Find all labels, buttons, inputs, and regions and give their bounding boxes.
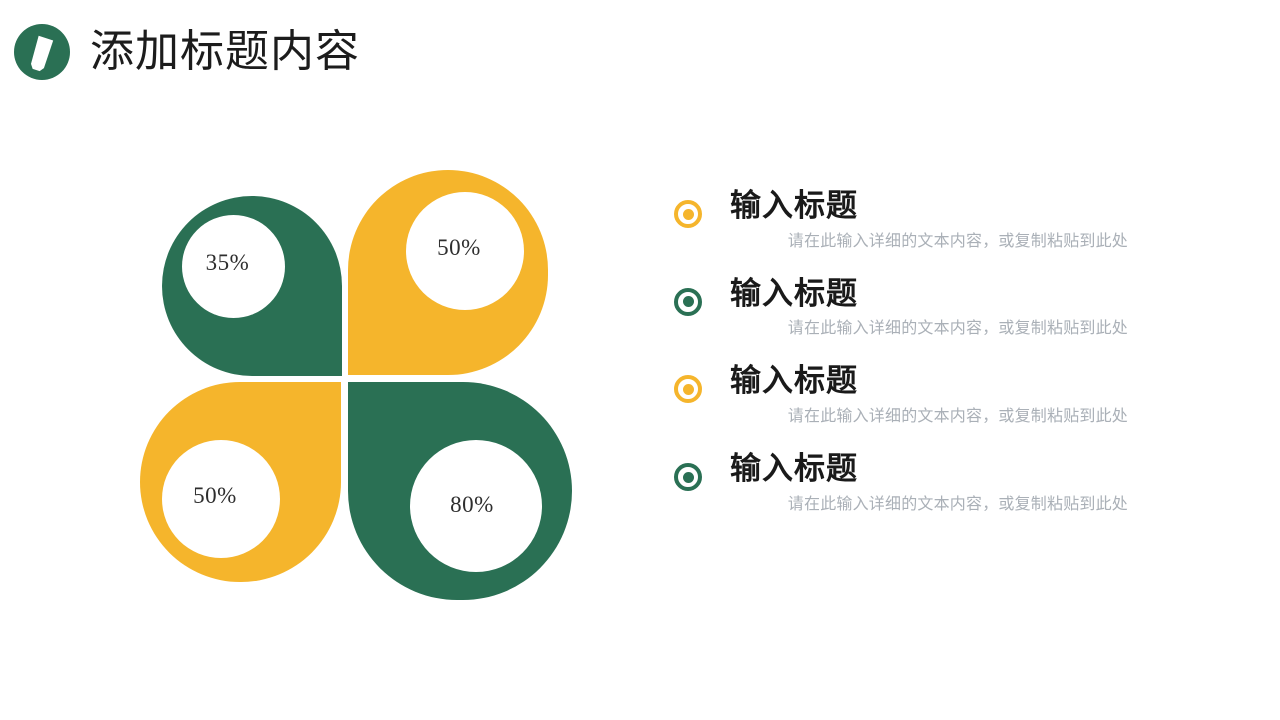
slide-header: 添加标题内容: [14, 16, 360, 88]
petal-top-right-hole: 50%: [406, 192, 524, 310]
list-item-title: 输入标题: [660, 453, 1140, 486]
petal-top-left[interactable]: 35%: [162, 196, 342, 376]
list-item-description: 请在此输入详细的文本内容，或复制粘贴到此处: [660, 407, 1140, 426]
bullet-dot-icon: [683, 209, 694, 220]
list-item-title: 输入标题: [660, 278, 1140, 311]
list-item-description: 请在此输入详细的文本内容，或复制粘贴到此处: [660, 232, 1140, 251]
pencil-circle-icon: [14, 24, 70, 80]
petal-bottom-left-hole: 50%: [162, 440, 280, 558]
bullet-dot-icon: [683, 472, 694, 483]
list-item[interactable]: 输入标题 请在此输入详细的文本内容，或复制粘贴到此处: [660, 453, 1140, 514]
list-item-description: 请在此输入详细的文本内容，或复制粘贴到此处: [660, 495, 1140, 514]
bullet-ring-icon: [674, 463, 702, 491]
petal-top-right[interactable]: 50%: [348, 170, 548, 375]
bullet-ring-icon: [674, 375, 702, 403]
petal-bottom-left-value: 50%: [193, 484, 237, 507]
list-item-title: 输入标题: [660, 190, 1140, 223]
petal-bottom-right-hole: 80%: [410, 440, 542, 572]
bullet-dot-icon: [683, 296, 694, 307]
list-item[interactable]: 输入标题 请在此输入详细的文本内容，或复制粘贴到此处: [660, 278, 1140, 339]
bullet-ring-icon: [674, 200, 702, 228]
four-petal-chart: 35% 50% 50% 80%: [120, 150, 600, 620]
bullet-ring-icon: [674, 288, 702, 316]
petal-bottom-right[interactable]: 80%: [348, 382, 572, 600]
list-item[interactable]: 输入标题 请在此输入详细的文本内容，或复制粘贴到此处: [660, 365, 1140, 426]
bullet-dot-icon: [683, 384, 694, 395]
petal-top-right-value: 50%: [437, 236, 481, 259]
petal-bottom-left[interactable]: 50%: [140, 382, 341, 582]
list-item-description: 请在此输入详细的文本内容，或复制粘贴到此处: [660, 319, 1140, 338]
content-list: 输入标题 请在此输入详细的文本内容，或复制粘贴到此处 输入标题 请在此输入详细的…: [660, 190, 1140, 514]
page-title: 添加标题内容: [90, 30, 360, 74]
list-item-title: 输入标题: [660, 365, 1140, 398]
petal-top-left-value: 35%: [206, 251, 250, 274]
petal-top-left-hole: 35%: [182, 215, 285, 318]
list-item[interactable]: 输入标题 请在此输入详细的文本内容，或复制粘贴到此处: [660, 190, 1140, 251]
petal-bottom-right-value: 80%: [450, 493, 494, 516]
